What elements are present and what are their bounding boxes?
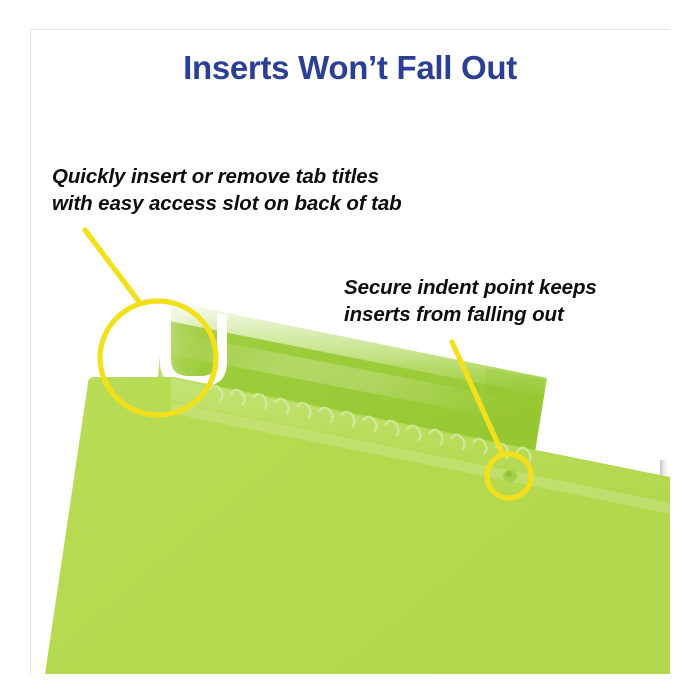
callout-right-line-2: inserts from falling out — [344, 301, 597, 328]
highlight-circle-right — [487, 454, 531, 498]
callout-right-text: Secure indent point keeps inserts from f… — [344, 274, 597, 328]
callout-left-line-2: with easy access slot on back of tab — [52, 190, 402, 217]
leader-line-left — [85, 230, 140, 303]
callout-annotations — [0, 0, 700, 700]
highlight-circle-left — [100, 301, 216, 415]
leader-line-right — [452, 342, 503, 455]
product-feature-graphic: Inserts Won’t Fall Out — [0, 0, 700, 700]
callout-left-text: Quickly insert or remove tab titles with… — [52, 163, 402, 217]
callout-right-line-1: Secure indent point keeps — [344, 274, 597, 301]
callout-left-line-1: Quickly insert or remove tab titles — [52, 163, 402, 190]
